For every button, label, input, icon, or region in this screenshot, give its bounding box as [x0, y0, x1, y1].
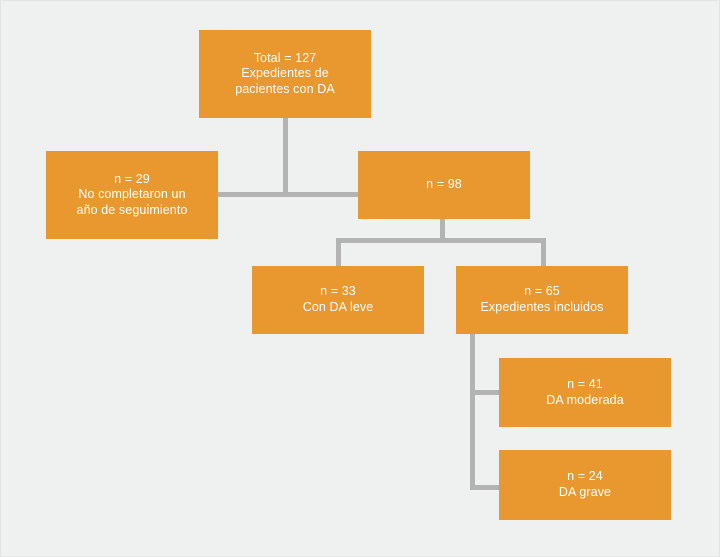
- node-moderate-line-2: DA moderada: [546, 393, 624, 409]
- connector-total-to-split: [283, 118, 288, 197]
- flowchart-canvas: Total = 127 Expedientes de pacientes con…: [0, 0, 720, 557]
- node-mild-line-1: n = 33: [320, 284, 356, 300]
- node-moderate: n = 41 DA moderada: [499, 358, 671, 427]
- node-excluded-line-2: No completaron un: [78, 187, 185, 203]
- node-excluded: n = 29 No completaron un año de seguimie…: [46, 151, 218, 239]
- connector-to-severe: [470, 485, 501, 490]
- node-followed-line-1: n = 98: [426, 177, 462, 193]
- node-total-line-1: Total = 127: [254, 51, 317, 67]
- node-severe: n = 24 DA grave: [499, 450, 671, 520]
- node-severe-line-1: n = 24: [567, 469, 603, 485]
- connector-followed-horizontal: [336, 238, 546, 243]
- connector-to-mild: [336, 238, 341, 266]
- connector-included-vertical: [470, 334, 475, 490]
- node-included: n = 65 Expedientes incluidos: [456, 266, 628, 334]
- node-total-line-2: Expedientes de: [241, 66, 329, 82]
- connector-to-moderate: [470, 390, 501, 395]
- node-mild-line-2: Con DA leve: [303, 300, 374, 316]
- node-total-line-3: pacientes con DA: [235, 82, 335, 98]
- node-severe-line-2: DA grave: [559, 485, 611, 501]
- connector-split-horizontal: [218, 192, 361, 197]
- connector-to-included: [541, 238, 546, 266]
- node-followed: n = 98: [358, 151, 530, 219]
- node-total: Total = 127 Expedientes de pacientes con…: [199, 30, 371, 118]
- node-included-line-1: n = 65: [524, 284, 560, 300]
- node-excluded-line-3: año de seguimiento: [77, 203, 188, 219]
- node-mild: n = 33 Con DA leve: [252, 266, 424, 334]
- node-included-line-2: Expedientes incluidos: [480, 300, 603, 316]
- node-excluded-line-1: n = 29: [114, 172, 150, 188]
- node-moderate-line-1: n = 41: [567, 377, 603, 393]
